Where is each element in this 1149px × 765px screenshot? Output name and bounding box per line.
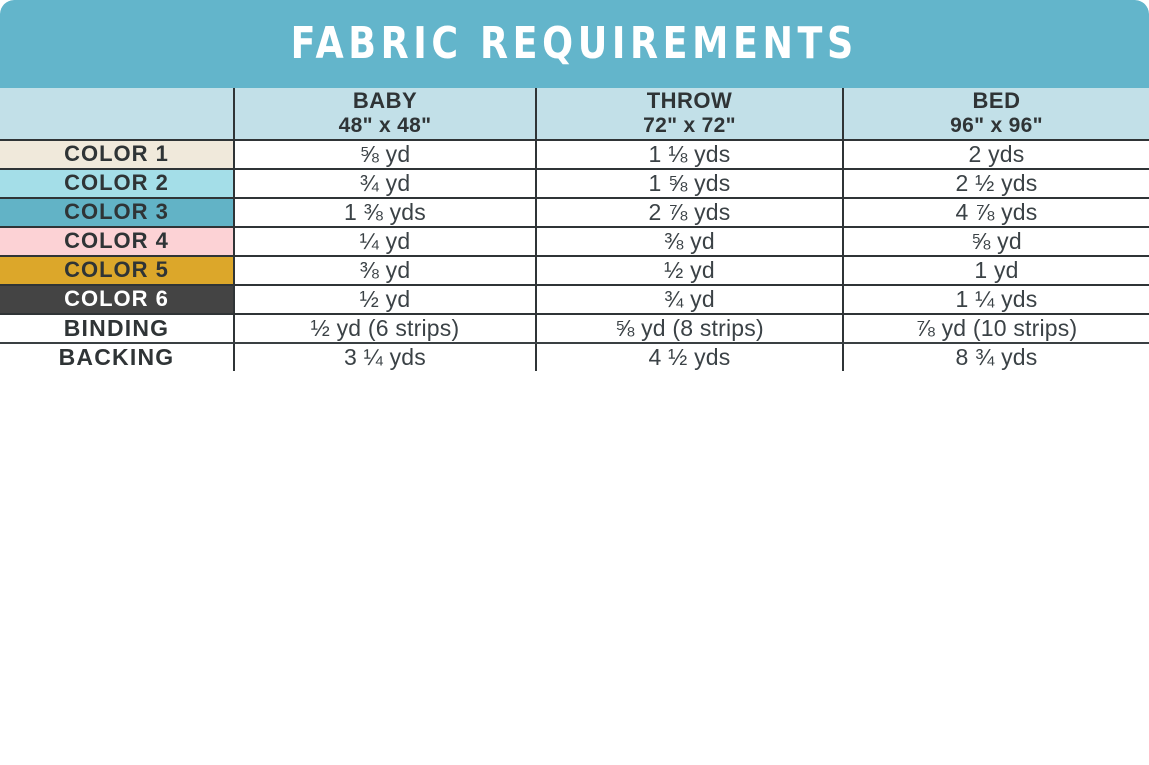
cell-value: 1 ⅛ yds	[649, 141, 731, 168]
table-cell: 4 ⅞ yds	[842, 199, 1149, 226]
table-cell: ½ yd (6 strips)	[233, 315, 535, 342]
cell-value: 1 yd	[974, 257, 1018, 284]
table-cell: ¼ yd	[233, 228, 535, 255]
cell-value: ⅜ yd	[360, 257, 411, 284]
cell-value: ¼ yd	[360, 228, 411, 255]
table-cell: ½ yd	[535, 257, 842, 284]
cell-value: ¾ yd	[360, 170, 411, 197]
table-cell: ⅞ yd (10 strips)	[842, 315, 1149, 342]
cell-value: 2 ⅞ yds	[649, 199, 731, 226]
swatch-label-color-5: COLOR 5	[64, 257, 169, 283]
column-name-baby: BABY	[353, 88, 417, 114]
cell-value: 4 ⅞ yds	[956, 199, 1038, 226]
cell-value: 1 ⅜ yds	[344, 199, 426, 226]
table-cell: 2 ⅞ yds	[535, 199, 842, 226]
table-cell: ½ yd	[233, 286, 535, 313]
swatch-label-color-4: COLOR 4	[64, 228, 169, 254]
row-label-color-1: COLOR 1	[0, 141, 233, 168]
table-cell: ⅜ yd	[535, 228, 842, 255]
subheader-bed: BED 96" x 96"	[842, 88, 1149, 139]
cell-value: 3 ¼ yds	[344, 344, 426, 371]
table-cell: 1 ⅝ yds	[535, 170, 842, 197]
column-size-bed: 96" x 96"	[950, 114, 1043, 139]
row-label-backing: BACKING	[0, 344, 233, 371]
cell-value: ⅜ yd	[664, 228, 715, 255]
table-grid: BABY 48" x 48" THROW 72" x 72" BED 96" x…	[0, 88, 1149, 371]
table-cell: 2 ½ yds	[842, 170, 1149, 197]
cell-value: 1 ¼ yds	[956, 286, 1038, 313]
swatch-label-color-1: COLOR 1	[64, 141, 169, 167]
cell-value: ⅞ yd (10 strips)	[916, 315, 1078, 342]
cell-value: ⅝ yd	[971, 228, 1022, 255]
subheader-throw: THROW 72" x 72"	[535, 88, 842, 139]
row-label-color-6: COLOR 6	[0, 286, 233, 313]
cell-value: 2 ½ yds	[956, 170, 1038, 197]
row-label-color-3: COLOR 3	[0, 199, 233, 226]
table-title-banner: FABRIC REQUIREMENTS	[0, 0, 1149, 88]
table-cell: 1 ⅜ yds	[233, 199, 535, 226]
cell-value: ½ yd	[360, 286, 411, 313]
table-cell: ⅝ yd	[842, 228, 1149, 255]
row-label-color-4: COLOR 4	[0, 228, 233, 255]
table-cell: ⅜ yd	[233, 257, 535, 284]
table-cell: 3 ¼ yds	[233, 344, 535, 371]
row-label-color-5: COLOR 5	[0, 257, 233, 284]
table-cell: 1 ¼ yds	[842, 286, 1149, 313]
column-size-baby: 48" x 48"	[339, 114, 432, 139]
cell-value: ½ yd	[664, 257, 715, 284]
table-cell: ⅝ yd (8 strips)	[535, 315, 842, 342]
subheader-baby: BABY 48" x 48"	[233, 88, 535, 139]
cell-value: ⅝ yd (8 strips)	[615, 315, 764, 342]
binding-label: BINDING	[64, 315, 170, 342]
subheader-corner-cell	[0, 88, 233, 139]
table-cell: ¾ yd	[233, 170, 535, 197]
table-cell: 2 yds	[842, 141, 1149, 168]
cell-value: 1 ⅝ yds	[649, 170, 731, 197]
table-cell: 4 ½ yds	[535, 344, 842, 371]
table-cell: 1 yd	[842, 257, 1149, 284]
page-title: FABRIC REQUIREMENTS	[291, 22, 858, 66]
cell-value: 8 ¾ yds	[956, 344, 1038, 371]
fabric-requirements-table: FABRIC REQUIREMENTS BABY 48" x 48" THROW…	[0, 0, 1149, 765]
row-label-binding: BINDING	[0, 315, 233, 342]
backing-label: BACKING	[59, 344, 175, 371]
table-cell: ¾ yd	[535, 286, 842, 313]
cell-value: ½ yd (6 strips)	[311, 315, 460, 342]
swatch-label-color-2: COLOR 2	[64, 170, 169, 196]
row-label-color-2: COLOR 2	[0, 170, 233, 197]
column-size-throw: 72" x 72"	[643, 114, 736, 139]
swatch-label-color-3: COLOR 3	[64, 199, 169, 225]
swatch-label-color-6: COLOR 6	[64, 286, 169, 312]
cell-value: 4 ½ yds	[649, 344, 731, 371]
cell-value: 2 yds	[969, 141, 1025, 168]
table-cell: 1 ⅛ yds	[535, 141, 842, 168]
column-name-bed: BED	[973, 88, 1021, 114]
cell-value: ⅝ yd	[360, 141, 411, 168]
column-name-throw: THROW	[647, 88, 733, 114]
table-cell: ⅝ yd	[233, 141, 535, 168]
cell-value: ¾ yd	[664, 286, 715, 313]
table-cell: 8 ¾ yds	[842, 344, 1149, 371]
